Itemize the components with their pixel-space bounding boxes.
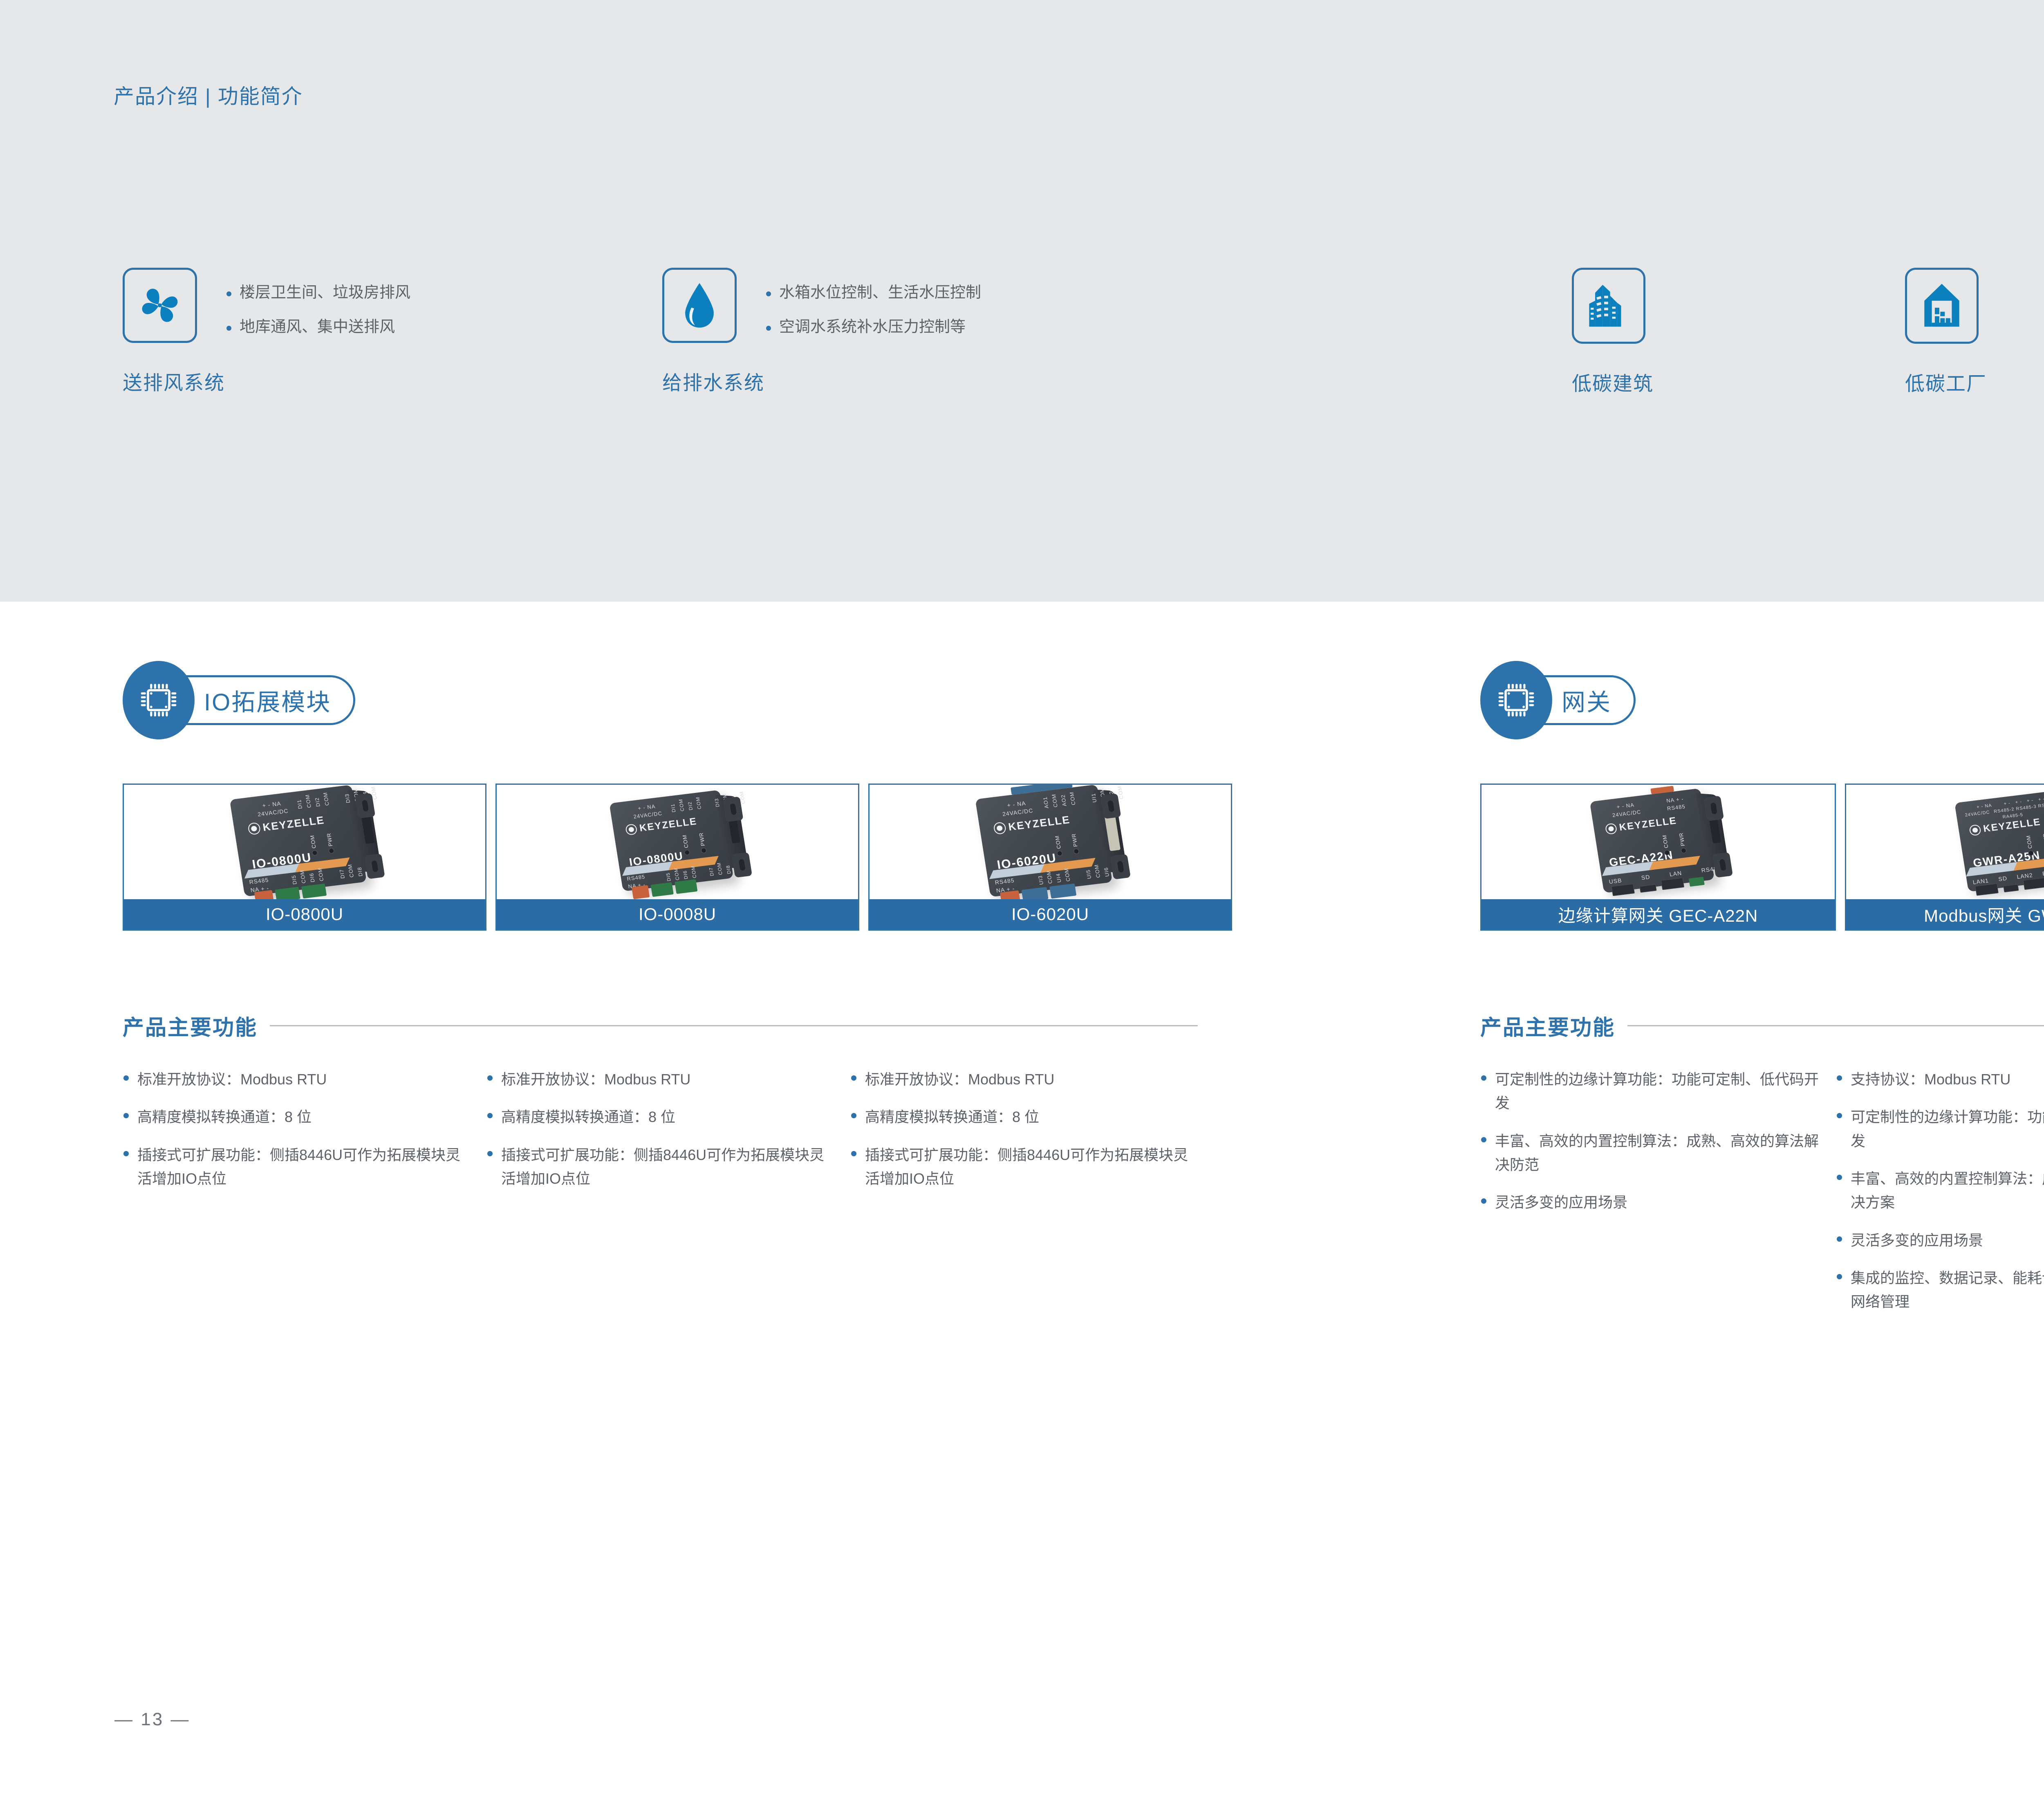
scenario-block-ventilation: 送排风系统 楼层卫生间、垃圾房排风 地库通风、集中送排风 <box>123 268 225 395</box>
section-title: 网关 <box>1562 683 1611 717</box>
features-column: 标准开放协议：Modbus RTU 高精度模拟转换通道：8 位 插接式可扩展功能… <box>123 1068 474 1205</box>
device-terminal: DI5 <box>290 871 298 885</box>
device-terminal: COM <box>678 799 686 812</box>
feature-item: 高精度模拟转换通道：8 位 <box>486 1105 838 1129</box>
device-terminal: COM <box>716 862 724 875</box>
feature-item: 丰富、高效的内置控制算法：成熟、高效的算法解决防范 <box>1480 1129 1824 1177</box>
device-terminal: DI2 <box>313 793 321 807</box>
device-bus-label: RS485 <box>626 873 645 882</box>
features-column: 标准开放协议：Modbus RTU 高精度模拟转换通道：8 位 插接式可扩展功能… <box>850 1068 1202 1205</box>
feature-item: 高精度模拟转换通道：8 位 <box>850 1105 1202 1129</box>
device-led-label: COM <box>2025 835 2033 849</box>
features-column: 支持协议：Modbus RTU 可定制性的边缘计算功能：功能可定制、低代码开发 … <box>1836 1068 2044 1328</box>
feature-item: 标准开放协议：Modbus RTU <box>486 1068 838 1091</box>
features-divider <box>270 1025 1198 1026</box>
features-column: 可定制性的边缘计算功能：功能可定制、低代码开发 丰富、高效的内置控制算法：成熟、… <box>1480 1068 1824 1328</box>
product-photo: + - NA 24VAC/DC DI1 COM DI2 COM <box>124 785 485 899</box>
device-terminal: UI1 <box>1089 789 1098 803</box>
water-drop-icon <box>677 281 722 330</box>
device-power-sub: 24VAC/DC <box>257 808 289 818</box>
device-power-sub: 24VAC/DC <box>1965 810 1990 817</box>
device-terminal: DI6 <box>681 867 689 880</box>
fan-icon <box>135 281 184 330</box>
product-card[interactable]: + - NA + - + - + - + - 24VAC/DC RS485-2 … <box>1845 784 2044 931</box>
features-columns-io: 标准开放协议：Modbus RTU 高精度模拟转换通道：8 位 插接式可扩展功能… <box>123 1068 1202 1205</box>
feature-item: 可定制性的边缘计算功能：功能可定制、低代码开发 <box>1836 1105 2044 1153</box>
device-led-label: PWR <box>1678 832 1686 846</box>
device-terminal: DI5 <box>664 869 672 882</box>
product-photo: + - NA 24VAC/DC AO1 COM AO2 COM <box>870 785 1231 899</box>
device-terminal: DI3 <box>343 789 351 804</box>
product-caption: 边缘计算网关 GEC-A22N <box>1481 899 1835 929</box>
section-header-io-modules: IO拓展模块 <box>123 661 355 739</box>
scenario-bullet-list: 楼层卫生间、垃圾房排风 地库通风、集中送排风 <box>225 285 410 354</box>
product-card-row-io: + - NA 24VAC/DC DI1 COM DI2 COM <box>123 784 1232 931</box>
device-bus-sub: RS485 <box>1667 803 1686 811</box>
device-terminal: DI7 <box>338 865 346 879</box>
feature-item: 插接式可扩展功能：侧插8446U可作为拓展模块灵活增加IO点位 <box>486 1143 838 1191</box>
device-led-label: COM <box>309 835 317 849</box>
device-power-label: + - NA <box>262 800 282 808</box>
device-led-label: COM <box>681 834 689 849</box>
device-terminal: COM <box>1093 864 1101 878</box>
product-photo: + - NA + - + - + - + - 24VAC/DC RS485-2 … <box>1846 785 2044 899</box>
device-top-connectors <box>1650 786 1674 795</box>
product-caption: IO-0008U <box>497 899 858 929</box>
features-divider <box>1627 1025 2044 1026</box>
product-photo: + - NA 24VAC/DC DI1 COM DI2 COM <box>497 785 858 899</box>
device-terminal: COM <box>347 864 355 878</box>
factory-icon-frame <box>1905 268 1979 344</box>
device-terminal: COM <box>690 865 698 878</box>
device-terminal: UI4 <box>1054 869 1062 883</box>
feature-item: 集成的监控、数据记录、能耗计量、报警、调度和网络管理 <box>1836 1266 2044 1314</box>
device-power-sub: 24VAC/DC <box>633 810 662 820</box>
fan-icon-frame <box>123 268 197 343</box>
section-title: IO拓展模块 <box>204 683 331 717</box>
chip-icon <box>137 678 180 722</box>
scenario-bullet: 楼层卫生间、垃圾房排风 <box>225 285 410 300</box>
device-terminal: COM <box>673 867 681 880</box>
device-terminal: DI1 <box>669 799 677 813</box>
features-title: 产品主要功能 <box>123 1010 258 1041</box>
factory-icon <box>1919 281 1965 331</box>
device-terminal: DI8 <box>724 861 732 874</box>
device-led-label: COM <box>1054 835 1062 849</box>
device-terminal: DI8 <box>356 862 364 877</box>
target-block-building: 低碳建筑 <box>1572 268 1654 396</box>
product-card[interactable]: + - NA 24VAC/DC DI1 COM DI2 COM <box>123 784 486 931</box>
device-port-label: LAN <box>1669 869 1682 879</box>
device-terminal: AO1 <box>1042 795 1050 809</box>
feature-item: 灵活多变的应用场景 <box>1836 1229 2044 1252</box>
running-header-left: 产品介绍 | 功能简介 <box>114 80 303 110</box>
feature-item: 可定制性的边缘计算功能：功能可定制、低代码开发 <box>1480 1068 1824 1115</box>
device-power-label: + - NA <box>1616 802 1635 810</box>
scenario-caption: 给排水系统 <box>662 367 764 395</box>
device-terminal: DI2 <box>686 797 694 811</box>
product-caption: Modbus网关 GWR-A25N <box>1846 899 2044 929</box>
feature-item: 标准开放协议：Modbus RTU <box>123 1068 474 1091</box>
product-caption: IO-6020U <box>870 899 1231 929</box>
device-power-sub: 24VAC/DC <box>1612 809 1641 818</box>
skyscraper-icon-frame <box>1572 268 1645 344</box>
device-port-label: SD <box>1641 873 1650 882</box>
feature-item: 插接式可扩展功能：侧插8446U可作为拓展模块灵活增加IO点位 <box>850 1143 1202 1191</box>
feature-item: 插接式可扩展功能：侧插8446U可作为拓展模块灵活增加IO点位 <box>123 1143 474 1191</box>
device-terminal: COM <box>1051 793 1059 808</box>
device-terminal: COM <box>1063 868 1071 882</box>
product-photo: + - NA 24VAC/DC NA + - RS485 KEYZELLE GE… <box>1481 785 1835 899</box>
scenario-caption: 送排风系统 <box>123 367 225 395</box>
chip-icon <box>1495 678 1537 722</box>
device-terminal: COM <box>299 869 307 884</box>
target-block-factory: 低碳工厂 <box>1905 268 1987 396</box>
product-card[interactable]: + - NA 24VAC/DC AO1 COM AO2 COM <box>868 784 1232 931</box>
target-caption: 低碳建筑 <box>1572 367 1654 396</box>
device-terminal: DI6 <box>308 869 316 883</box>
scenario-bullet-list: 水箱水位控制、生活水压控制 空调水系统补水压力控制等 <box>764 285 981 354</box>
chip-icon-badge <box>1480 661 1552 739</box>
product-card[interactable]: + - NA 24VAC/DC NA + - RS485 KEYZELLE GE… <box>1480 784 1836 931</box>
features-column: 标准开放协议：Modbus RTU 高精度模拟转换通道：8 位 插接式可扩展功能… <box>486 1068 838 1205</box>
feature-item: 支持协议：Modbus RTU <box>1836 1068 2044 1091</box>
target-caption: 低碳工厂 <box>1905 367 1987 396</box>
features-header-io: 产品主要功能 <box>123 1010 1198 1041</box>
device-terminal: COM <box>322 792 330 806</box>
device-led-label: PWR <box>325 833 334 847</box>
scenario-bullet: 空调水系统补水压力控制等 <box>764 319 981 335</box>
device-power-label: + - NA <box>1006 800 1026 808</box>
features-columns-gateway: 可定制性的边缘计算功能：功能可定制、低代码开发 丰富、高效的内置控制算法：成熟、… <box>1480 1068 2044 1328</box>
chip-icon-badge <box>123 661 195 739</box>
device-power-label: + - NA <box>637 803 656 811</box>
device-terminal: AO2 <box>1060 793 1068 807</box>
features-header-gateway: 产品主要功能 <box>1480 1010 2044 1041</box>
scenario-bullet: 地库通风、集中送排风 <box>225 319 410 335</box>
device-power-label: + - NA <box>1976 803 1992 810</box>
feature-item: 丰富、高效的内置控制算法：成熟、高效的算法解决方案 <box>1836 1167 2044 1215</box>
features-title: 产品主要功能 <box>1480 1010 1615 1041</box>
device-led-label: PWR <box>1070 833 1078 847</box>
device-terminal: COM <box>304 794 312 808</box>
device-port-label: USB <box>1608 876 1623 886</box>
device-led-label: PWR <box>2042 833 2044 847</box>
section-header-gateways: 网关 <box>1480 661 1636 739</box>
device-terminal: UI5 <box>1084 865 1092 879</box>
page-number-left: — 13 — <box>114 1709 190 1730</box>
device-terminal: COM <box>316 867 325 882</box>
skyscraper-icon <box>1586 281 1632 331</box>
scenario-bullet: 水箱水位控制、生活水压控制 <box>764 285 981 300</box>
device-terminal: COM <box>695 796 702 809</box>
product-card-row-gateway: + - NA 24VAC/DC NA + - RS485 KEYZELLE GE… <box>1480 784 2044 931</box>
device-terminal: DI7 <box>707 863 715 876</box>
device-port-label: RS485-1 <box>2042 867 2044 878</box>
device-terminal: DI3 <box>713 794 721 807</box>
device-led-label: PWR <box>698 832 706 846</box>
device-terminal: COM <box>1068 791 1076 806</box>
device-terminal: UI6 <box>1102 863 1110 877</box>
feature-item: 标准开放协议：Modbus RTU <box>850 1068 1202 1091</box>
device-bus-label: RS485 <box>249 876 269 885</box>
product-caption: IO-0800U <box>124 899 485 929</box>
product-card[interactable]: + - NA 24VAC/DC DI1 COM DI2 COM <box>495 784 859 931</box>
feature-item: 灵活多变的应用场景 <box>1480 1191 1824 1214</box>
feature-item: 高精度模拟转换通道：8 位 <box>123 1105 474 1129</box>
device-terminal: COM <box>1045 870 1053 884</box>
device-bus-label: NA + - <box>1666 796 1684 804</box>
device-led-label: COM <box>1661 834 1669 849</box>
water-drop-icon-frame <box>662 268 737 343</box>
device-bus-label: RS485 <box>995 877 1015 886</box>
scenario-block-water: 给排水系统 水箱水位控制、生活水压控制 空调水系统补水压力控制等 <box>662 268 764 395</box>
device-terminal: UI3 <box>1036 871 1044 885</box>
device-power-sub: 24VAC/DC <box>1002 807 1033 817</box>
